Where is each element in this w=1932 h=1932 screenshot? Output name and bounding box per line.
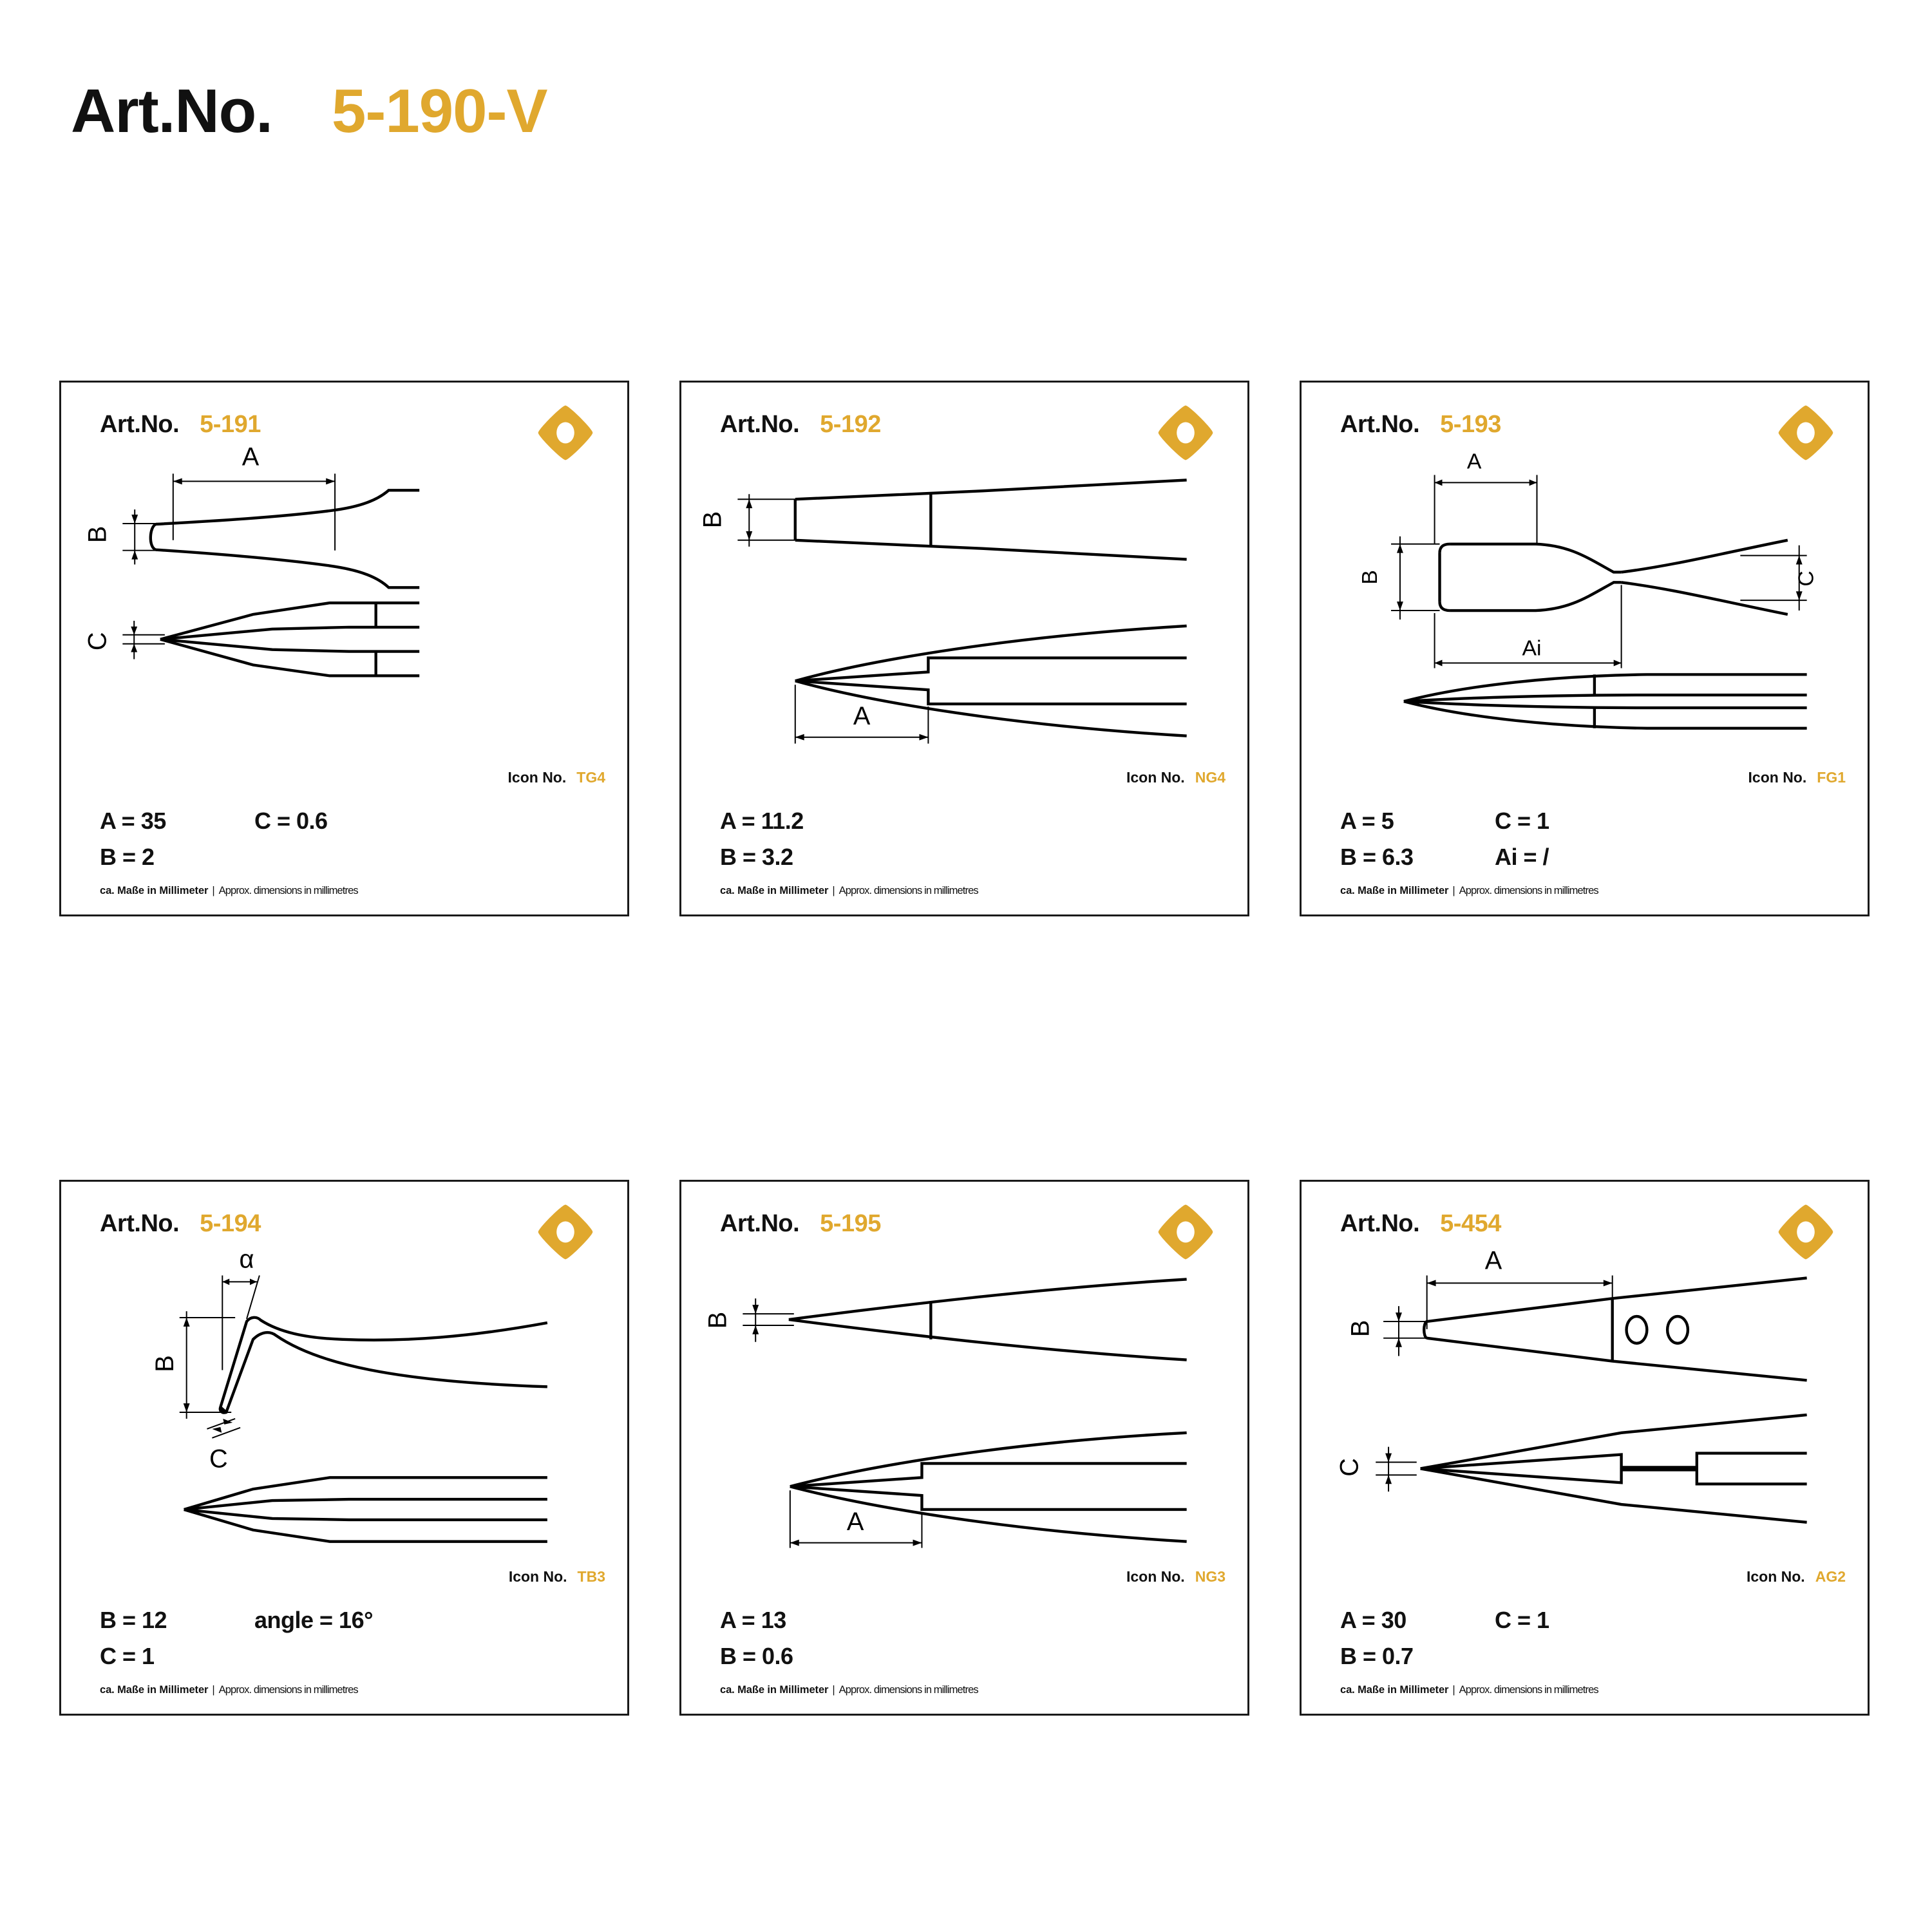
technical-drawing-5-191: A B C bbox=[61, 442, 627, 790]
dimension-C: C = 0.6 bbox=[254, 808, 486, 835]
footnote-separator: | bbox=[832, 1684, 835, 1696]
panel-header: Art.No. 5-192 bbox=[720, 411, 881, 439]
icon-no-label: Icon No. bbox=[1748, 769, 1807, 786]
panel-row-2: Art.No. 5-194 α B bbox=[59, 1180, 1875, 1716]
panel-header: Art.No. 5-194 bbox=[100, 1210, 261, 1238]
art-no-value: 5-454 bbox=[1440, 1210, 1501, 1238]
product-panel-5-195[interactable]: Art.No. 5-195 B bbox=[679, 1180, 1249, 1716]
icon-no-label: Icon No. bbox=[1126, 1568, 1185, 1586]
icon-no: Icon No. NG4 bbox=[1126, 769, 1226, 786]
dimension-list: A = 30 C = 1 B = 0.7 bbox=[1340, 1607, 1830, 1679]
panel-header: 5-191 Art.No. 5-191 bbox=[100, 411, 261, 439]
icon-no-value: AG2 bbox=[1815, 1568, 1846, 1586]
footnote-german: ca. Maße in Millimeter bbox=[720, 885, 828, 896]
footnote-english: Approx. dimensions in millimetres bbox=[1459, 885, 1598, 896]
footnote-separator: | bbox=[212, 1684, 214, 1696]
dimension-row: B = 6.3 Ai = / bbox=[1340, 844, 1830, 871]
footnote-german: ca. Maße in Millimeter bbox=[1340, 885, 1448, 896]
icon-no-label: Icon No. bbox=[1126, 769, 1185, 786]
product-panel-5-194[interactable]: Art.No. 5-194 α B bbox=[59, 1180, 629, 1716]
dimension-row: A = 30 C = 1 bbox=[1340, 1607, 1830, 1634]
dimension-B: B = 3.2 bbox=[720, 844, 875, 871]
art-no-label-text: Art.No. bbox=[720, 1210, 799, 1238]
panel-row-1: 5-191 Art.No. 5-191 A B bbox=[59, 381, 1875, 916]
dimension-empty bbox=[875, 1607, 1106, 1634]
dimension-list: A = 13 B = 0.6 bbox=[720, 1607, 1209, 1679]
dimension-list: A = 35 C = 0.6 B = 2 bbox=[100, 808, 589, 880]
dimension-row: B = 2 bbox=[100, 844, 589, 871]
footnote-english: Approx. dimensions in millimetres bbox=[1459, 1684, 1598, 1696]
dimension-empty bbox=[1495, 1643, 1727, 1670]
dimension-row: C = 1 bbox=[100, 1643, 589, 1670]
art-no-label-text: Art.No. bbox=[1340, 411, 1419, 439]
page-title-label: Art.No. bbox=[71, 76, 272, 147]
dim-label-B: B bbox=[704, 1312, 732, 1329]
icon-no: Icon No. TG4 bbox=[508, 769, 605, 786]
panel-header: Art.No. 5-195 bbox=[720, 1210, 881, 1238]
dim-label-A: A bbox=[242, 443, 260, 471]
icon-no-label: Icon No. bbox=[509, 1568, 567, 1586]
dimension-C: C = 1 bbox=[1495, 1607, 1727, 1634]
dimension-Ai: Ai = / bbox=[1495, 844, 1727, 871]
art-no-value: 5-194 bbox=[200, 1210, 261, 1238]
dimension-A: A = 30 bbox=[1340, 1607, 1495, 1634]
technical-drawing-5-195: B A bbox=[681, 1241, 1247, 1589]
art-no-label-text: Art.No. bbox=[720, 411, 799, 439]
dim-label-alpha: α bbox=[240, 1245, 254, 1274]
footnote-separator: | bbox=[212, 885, 214, 896]
footnote: ca. Maße in Millimeter | Approx. dimensi… bbox=[100, 1684, 358, 1696]
icon-no: Icon No. TB3 bbox=[509, 1568, 605, 1586]
footnote-english: Approx. dimensions in millimetres bbox=[839, 1684, 978, 1696]
icon-no-value: NG3 bbox=[1195, 1568, 1226, 1586]
dimension-A: A = 35 bbox=[100, 808, 254, 835]
dimension-empty bbox=[875, 808, 1106, 835]
footnote-german: ca. Maße in Millimeter bbox=[100, 885, 208, 896]
dimension-empty bbox=[254, 1643, 486, 1670]
art-no-value: 5-193 bbox=[1440, 411, 1501, 439]
dim-label-A: A bbox=[1467, 450, 1482, 474]
dimension-row: A = 35 C = 0.6 bbox=[100, 808, 589, 835]
dim-label-A: A bbox=[853, 702, 871, 730]
dimension-angle: angle = 16° bbox=[254, 1607, 486, 1634]
icon-no: Icon No. FG1 bbox=[1748, 769, 1846, 786]
dim-label-C: C bbox=[1335, 1458, 1363, 1477]
dimension-B: B = 0.7 bbox=[1340, 1643, 1495, 1670]
footnote: ca. Maße in Millimeter | Approx. dimensi… bbox=[720, 885, 978, 897]
dim-label-B: B bbox=[699, 511, 727, 529]
footnote-english: Approx. dimensions in millimetres bbox=[839, 885, 978, 896]
panel-grid: 5-191 Art.No. 5-191 A B bbox=[59, 381, 1875, 1716]
dimension-list: A = 11.2 B = 3.2 bbox=[720, 808, 1209, 880]
art-no-value: 5-192 bbox=[820, 411, 881, 439]
art-no-label-text: Art.No. bbox=[100, 411, 179, 439]
art-no-label-text: Art.No. bbox=[1340, 1210, 1419, 1238]
technical-drawing-5-192: B A bbox=[681, 442, 1247, 790]
technical-drawing-5-193: A B bbox=[1302, 442, 1868, 790]
art-no-value: 5-195 bbox=[820, 1210, 881, 1238]
dim-label-B: B bbox=[84, 526, 112, 544]
dimension-A: A = 11.2 bbox=[720, 808, 875, 835]
dim-label-Ai: Ai bbox=[1522, 636, 1542, 661]
dimension-row: B = 0.6 bbox=[720, 1643, 1209, 1670]
dim-label-C: C bbox=[209, 1444, 228, 1473]
dimension-C: C = 1 bbox=[100, 1643, 254, 1670]
dim-label-C: C bbox=[1794, 571, 1819, 586]
footnote-separator: | bbox=[1452, 885, 1455, 896]
technical-drawing-5-194: α B bbox=[61, 1241, 627, 1589]
dimension-empty bbox=[254, 844, 486, 871]
icon-no-value: FG1 bbox=[1817, 769, 1846, 786]
footnote-english: Approx. dimensions in millimetres bbox=[219, 885, 358, 896]
dimension-row: A = 5 C = 1 bbox=[1340, 808, 1830, 835]
art-no-value: 5-191 bbox=[200, 411, 261, 439]
dimension-A: A = 13 bbox=[720, 1607, 875, 1634]
dim-label-B: B bbox=[1346, 1320, 1374, 1338]
technical-drawing-5-454: A B C bbox=[1302, 1241, 1868, 1589]
dim-label-C: C bbox=[84, 632, 112, 650]
icon-no-label: Icon No. bbox=[508, 769, 567, 786]
dimension-empty bbox=[875, 844, 1106, 871]
footnote-german: ca. Maße in Millimeter bbox=[1340, 1684, 1448, 1696]
icon-no-value: NG4 bbox=[1195, 769, 1226, 786]
page-title-value: 5-190-V bbox=[332, 76, 547, 147]
product-panel-5-192[interactable]: Art.No. 5-192 B bbox=[679, 381, 1249, 916]
icon-no: Icon No. AG2 bbox=[1747, 1568, 1846, 1586]
dimension-list: A = 5 C = 1 B = 6.3 Ai = / bbox=[1340, 808, 1830, 880]
dimension-list: B = 12 angle = 16° C = 1 bbox=[100, 1607, 589, 1679]
dimension-A: A = 5 bbox=[1340, 808, 1495, 835]
art-no-label-text: Art.No. bbox=[100, 1210, 179, 1238]
panel-header: Art.No. 5-454 bbox=[1340, 1210, 1501, 1238]
dimension-B: B = 2 bbox=[100, 844, 254, 871]
footnote: ca. Maße in Millimeter | Approx. dimensi… bbox=[1340, 885, 1598, 897]
footnote-german: ca. Maße in Millimeter bbox=[720, 1684, 828, 1696]
icon-no-label: Icon No. bbox=[1747, 1568, 1805, 1586]
dimension-B: B = 12 bbox=[100, 1607, 254, 1634]
dim-label-B: B bbox=[151, 1355, 179, 1372]
footnote-separator: | bbox=[832, 885, 835, 896]
product-panel-5-191[interactable]: 5-191 Art.No. 5-191 A B bbox=[59, 381, 629, 916]
dimension-row: A = 13 bbox=[720, 1607, 1209, 1634]
footnote-german: ca. Maße in Millimeter bbox=[100, 1684, 208, 1696]
footnote: ca. Maße in Millimeter | Approx. dimensi… bbox=[1340, 1684, 1598, 1696]
icon-no-value: TB3 bbox=[578, 1568, 605, 1586]
dimension-row: A = 11.2 bbox=[720, 808, 1209, 835]
product-panel-5-454[interactable]: Art.No. 5-454 A B bbox=[1300, 1180, 1870, 1716]
footnote: ca. Maße in Millimeter | Approx. dimensi… bbox=[100, 885, 358, 897]
product-panel-5-193[interactable]: Art.No. 5-193 A B bbox=[1300, 381, 1870, 916]
dim-label-A: A bbox=[847, 1508, 864, 1536]
page-title: Art.No. 5-190-V bbox=[71, 76, 547, 147]
dimension-row: B = 0.7 bbox=[1340, 1643, 1830, 1670]
dimension-B: B = 0.6 bbox=[720, 1643, 875, 1670]
dimension-empty bbox=[875, 1643, 1106, 1670]
panel-header: Art.No. 5-193 bbox=[1340, 411, 1501, 439]
footnote-separator: | bbox=[1452, 1684, 1455, 1696]
footnote-english: Approx. dimensions in millimetres bbox=[219, 1684, 358, 1696]
dim-label-B: B bbox=[1358, 570, 1382, 585]
footnote: ca. Maße in Millimeter | Approx. dimensi… bbox=[720, 1684, 978, 1696]
dimension-B: B = 6.3 bbox=[1340, 844, 1495, 871]
dimension-C: C = 1 bbox=[1495, 808, 1727, 835]
dim-label-A: A bbox=[1485, 1247, 1502, 1275]
dimension-row: B = 3.2 bbox=[720, 844, 1209, 871]
dimension-row: B = 12 angle = 16° bbox=[100, 1607, 589, 1634]
icon-no: Icon No. NG3 bbox=[1126, 1568, 1226, 1586]
icon-no-value: TG4 bbox=[576, 769, 605, 786]
